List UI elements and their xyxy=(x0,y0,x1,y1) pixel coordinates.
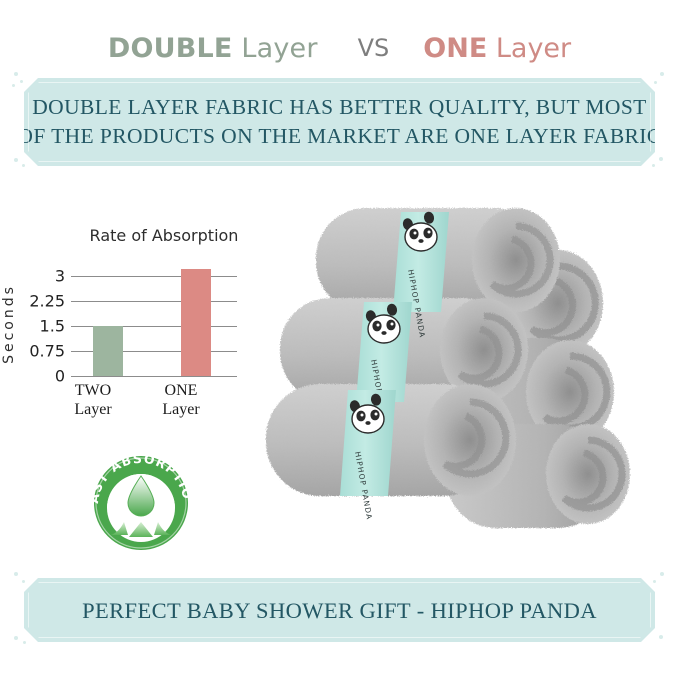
chart-y-tick: 0.75 xyxy=(9,342,65,361)
banner-decor-dot xyxy=(14,72,18,76)
banner-decor-dot xyxy=(660,572,664,576)
top-banner-line-1: DOUBLE LAYER FABRIC HAS BETTER QUALITY, … xyxy=(32,93,646,122)
banner-decor-dot xyxy=(659,157,663,161)
banner-decor-dot xyxy=(14,572,18,576)
banner-decor-dot xyxy=(659,635,663,639)
towel-stack-illustration: HIPHOP PANDA HIPHOP PANDA xyxy=(258,186,679,562)
banner-decor-dot xyxy=(12,84,15,87)
chart-x-tick-one-layer-line1: ONE xyxy=(136,381,226,400)
chart-bar-two-layer xyxy=(93,326,123,376)
chart-x-tick-two-layer-line2: Layer xyxy=(48,400,138,419)
chart-gridline xyxy=(71,301,237,302)
banner-decor-dot xyxy=(22,164,25,167)
chart-gridline xyxy=(71,376,237,377)
top-banner: DOUBLE LAYER FABRIC HAS BETTER QUALITY, … xyxy=(24,78,655,166)
infographic-page: DOUBLE Layer VS ONE Layer DOUBLE LAYER F… xyxy=(0,0,679,679)
bottom-banner-line-1: PERFECT BABY SHOWER GIFT - HIPHOP PANDA xyxy=(82,596,597,625)
banner-decor-dot xyxy=(653,580,656,583)
one-layer-title-strong: ONE xyxy=(423,33,487,64)
banner-decor-dot xyxy=(22,580,25,583)
banner-decor-dot xyxy=(20,80,23,83)
banner-decor-dot xyxy=(660,72,664,76)
fast-absorption-badge: FAST ABSORPTION xyxy=(80,442,202,564)
brand-band-bottom: HIPHOP PANDA xyxy=(340,390,396,521)
chart-title: Rate of Absorption xyxy=(74,226,254,245)
absorption-chart: Rate of Absorption Seconds 32.251.50.750… xyxy=(0,226,262,426)
product-photo-towels: HIPHOP PANDA HIPHOP PANDA xyxy=(258,186,679,562)
chart-y-tick: 1.5 xyxy=(9,317,65,336)
chart-x-tick-two-layer: TWO Layer xyxy=(48,381,138,419)
double-layer-title: DOUBLE Layer xyxy=(108,33,318,64)
fast-absorption-seal-icon: FAST ABSORPTION xyxy=(80,442,202,564)
chart-y-tick: 3 xyxy=(9,267,65,286)
top-banner-line-2: OF THE PRODUCTS ON THE MARKET ARE ONE LA… xyxy=(17,122,661,151)
double-layer-title-rest: Layer xyxy=(233,33,318,64)
banner-decor-dot xyxy=(652,164,655,167)
comparison-title: DOUBLE Layer VS ONE Layer xyxy=(0,25,679,71)
double-layer-title-strong: DOUBLE xyxy=(108,33,233,64)
chart-x-tick-one-layer-line2: Layer xyxy=(136,400,226,419)
chart-gridline xyxy=(71,276,237,277)
one-layer-title: ONE Layer xyxy=(423,33,571,64)
versus-label: VS xyxy=(358,34,390,62)
banner-decor-dot xyxy=(14,636,18,640)
one-layer-title-rest: Layer xyxy=(487,33,571,64)
chart-y-tick: 2.25 xyxy=(9,292,65,311)
banner-decor-dot xyxy=(14,158,18,162)
banner-decor-dot xyxy=(654,81,657,84)
chart-x-tick-one-layer: ONE Layer xyxy=(136,381,226,419)
bottom-banner: PERFECT BABY SHOWER GIFT - HIPHOP PANDA xyxy=(24,578,655,642)
banner-decor-dot xyxy=(23,641,26,644)
chart-plot-area: 32.251.50.750 xyxy=(71,266,237,376)
chart-x-tick-two-layer-line1: TWO xyxy=(48,381,138,400)
chart-bar-one-layer xyxy=(181,269,211,376)
